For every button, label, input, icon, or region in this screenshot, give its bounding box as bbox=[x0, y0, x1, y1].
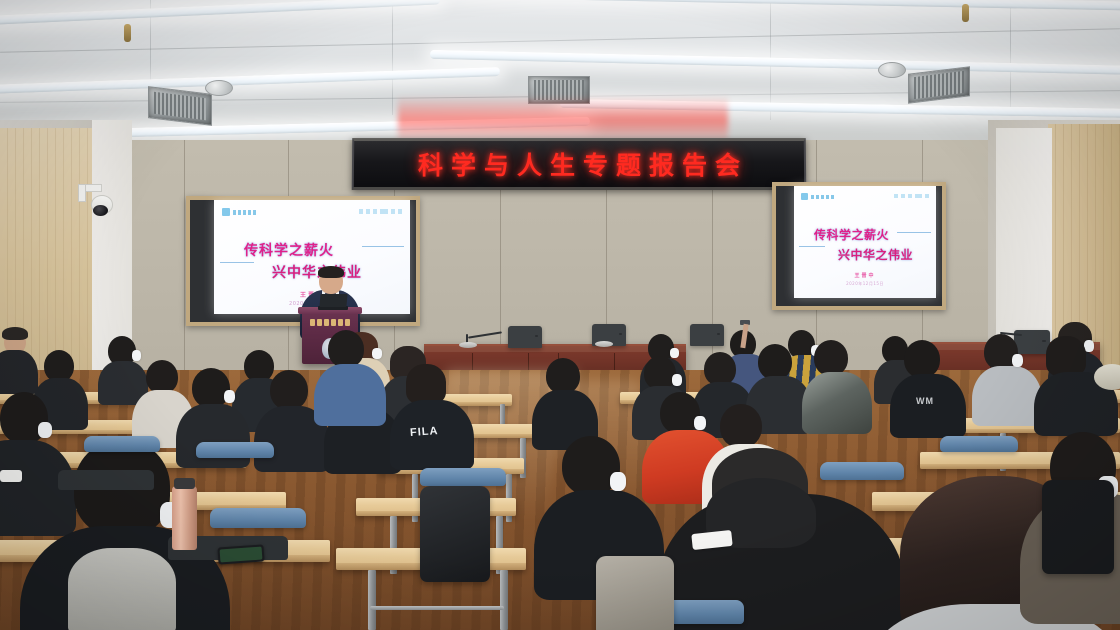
chair-backrest bbox=[420, 468, 506, 486]
thermos-cap bbox=[174, 478, 195, 489]
ceiling-speaker bbox=[205, 80, 233, 96]
lecture-hall-photo: 科学与人生专题报告会 传科学之薪火 兴中华之伟业 王晋中 bbox=[0, 0, 1120, 630]
ceiling-light-strip bbox=[0, 67, 500, 94]
ceiling-speaker bbox=[878, 62, 906, 78]
ceiling-light-strip bbox=[0, 0, 440, 26]
microphone-base bbox=[595, 341, 613, 347]
gray-tshirt bbox=[68, 548, 176, 630]
camera-lens-icon bbox=[93, 205, 108, 216]
desk-cross-bar bbox=[370, 606, 504, 610]
chair-backrest bbox=[940, 436, 1018, 452]
paper-sheet bbox=[0, 470, 22, 482]
air-vent bbox=[148, 86, 212, 126]
head-table-chair bbox=[508, 326, 542, 348]
backpack bbox=[1042, 480, 1114, 574]
desk-leg bbox=[500, 570, 508, 630]
led-banner-sign: 科学与人生专题报告会 bbox=[352, 138, 807, 190]
slide-logo-icon bbox=[801, 193, 834, 200]
podium-name-plate bbox=[305, 319, 355, 326]
slide-title-line1: 传科学之薪火 bbox=[814, 226, 889, 243]
slide-title-line2: 兴中华之伟业 bbox=[838, 246, 913, 263]
right-projection-screen: 传科学之薪火 兴中华之伟业 王晋中 2020年12月15日 bbox=[794, 186, 936, 298]
fila-logo-text: FILA bbox=[410, 425, 439, 439]
chair-backrest bbox=[210, 508, 306, 528]
head-table-chair bbox=[690, 324, 724, 346]
camo-jacket bbox=[802, 372, 872, 434]
slide-right: 传科学之薪火 兴中华之伟业 王晋中 2020年12月15日 bbox=[794, 186, 936, 298]
thermos-bottle bbox=[172, 486, 197, 550]
chair-backrest bbox=[820, 462, 904, 480]
chair-seat bbox=[58, 470, 154, 490]
chair-backrest bbox=[196, 442, 274, 458]
smartphone-on-desk bbox=[217, 544, 264, 564]
slide-header-note bbox=[894, 194, 929, 198]
slide-presenter-name: 王晋中 bbox=[794, 272, 936, 279]
slide-date: 2020年12月15日 bbox=[794, 281, 936, 287]
ceiling-light-strip bbox=[330, 0, 1120, 11]
backpack bbox=[596, 556, 674, 630]
sprinkler-head bbox=[124, 24, 131, 42]
ceiling-light-strip bbox=[430, 50, 1120, 75]
slide-title-line1: 传科学之薪火 bbox=[244, 240, 334, 260]
ceiling bbox=[0, 0, 1120, 152]
led-reflection bbox=[398, 96, 728, 144]
sprinkler-head bbox=[962, 4, 969, 22]
jacket-logo-text: WM bbox=[916, 396, 934, 406]
air-vent bbox=[908, 66, 970, 104]
slide-logo-icon bbox=[222, 208, 256, 216]
slide-title-line2: 兴中华之伟业 bbox=[272, 262, 362, 282]
led-banner-text: 科学与人生专题报告会 bbox=[410, 146, 748, 182]
podium-laptop-screen bbox=[319, 294, 347, 307]
microphone-base bbox=[459, 342, 477, 348]
backpack bbox=[420, 486, 490, 582]
gray-hoodie bbox=[972, 366, 1042, 426]
chair-backrest bbox=[84, 436, 160, 452]
slide-header-note bbox=[359, 209, 402, 214]
desk-leg bbox=[368, 570, 376, 630]
